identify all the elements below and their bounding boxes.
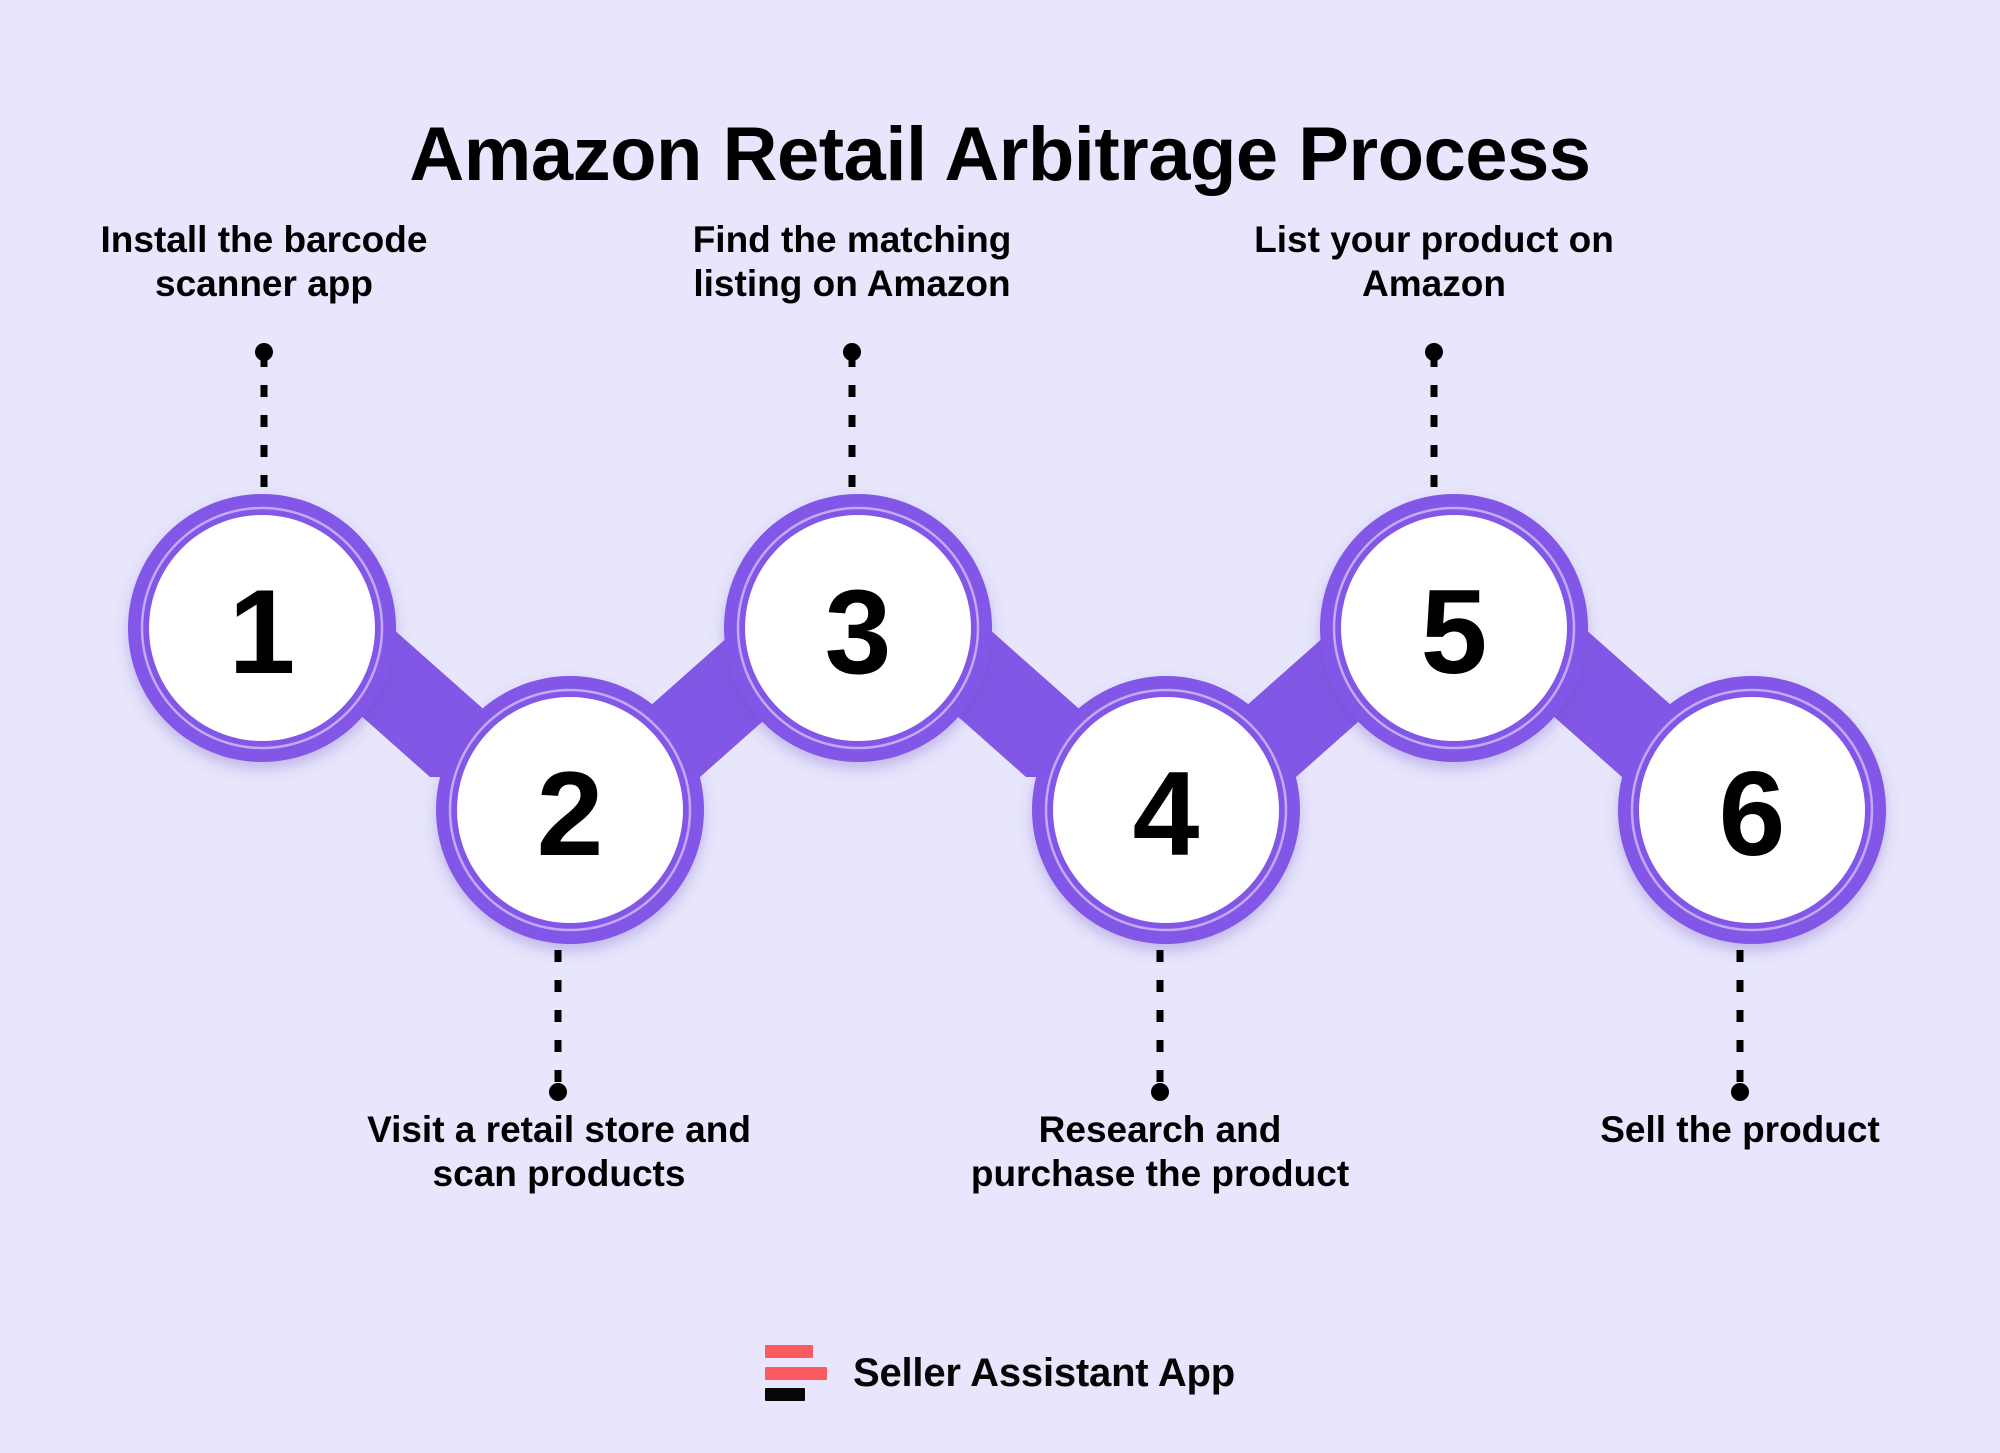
step-number-1: 1 [229, 565, 296, 699]
step-number-2: 2 [537, 747, 604, 881]
step-number-4: 4 [1133, 747, 1200, 881]
step-number-6: 6 [1719, 747, 1786, 881]
leader-line-2 [549, 950, 567, 1101]
step-label-5: List your product onAmazon [1214, 218, 1654, 305]
logo-bar-top [765, 1345, 813, 1358]
leader-line-6 [1731, 950, 1749, 1101]
step-label-4: Research andpurchase the product [926, 1108, 1394, 1195]
step-number-5: 5 [1421, 565, 1488, 699]
footer-brand: Seller Assistant App [0, 1345, 2000, 1401]
leader-line-3 [843, 343, 861, 492]
step-label-1: Install the barcodescanner app [44, 218, 484, 305]
step-label-2: Visit a retail store andscan products [325, 1108, 793, 1195]
logo-bar-middle [765, 1367, 827, 1380]
seller-assistant-logo-icon [765, 1345, 827, 1401]
step-label-6: Sell the product [1506, 1108, 1974, 1152]
step-label-3: Find the matchinglisting on Amazon [632, 218, 1072, 305]
leader-line-4 [1151, 950, 1169, 1101]
logo-bar-bottom [765, 1388, 805, 1401]
leader-line-1 [255, 343, 273, 492]
leader-line-5 [1425, 343, 1443, 492]
step-number-3: 3 [825, 565, 892, 699]
brand-name: Seller Assistant App [853, 1351, 1235, 1396]
